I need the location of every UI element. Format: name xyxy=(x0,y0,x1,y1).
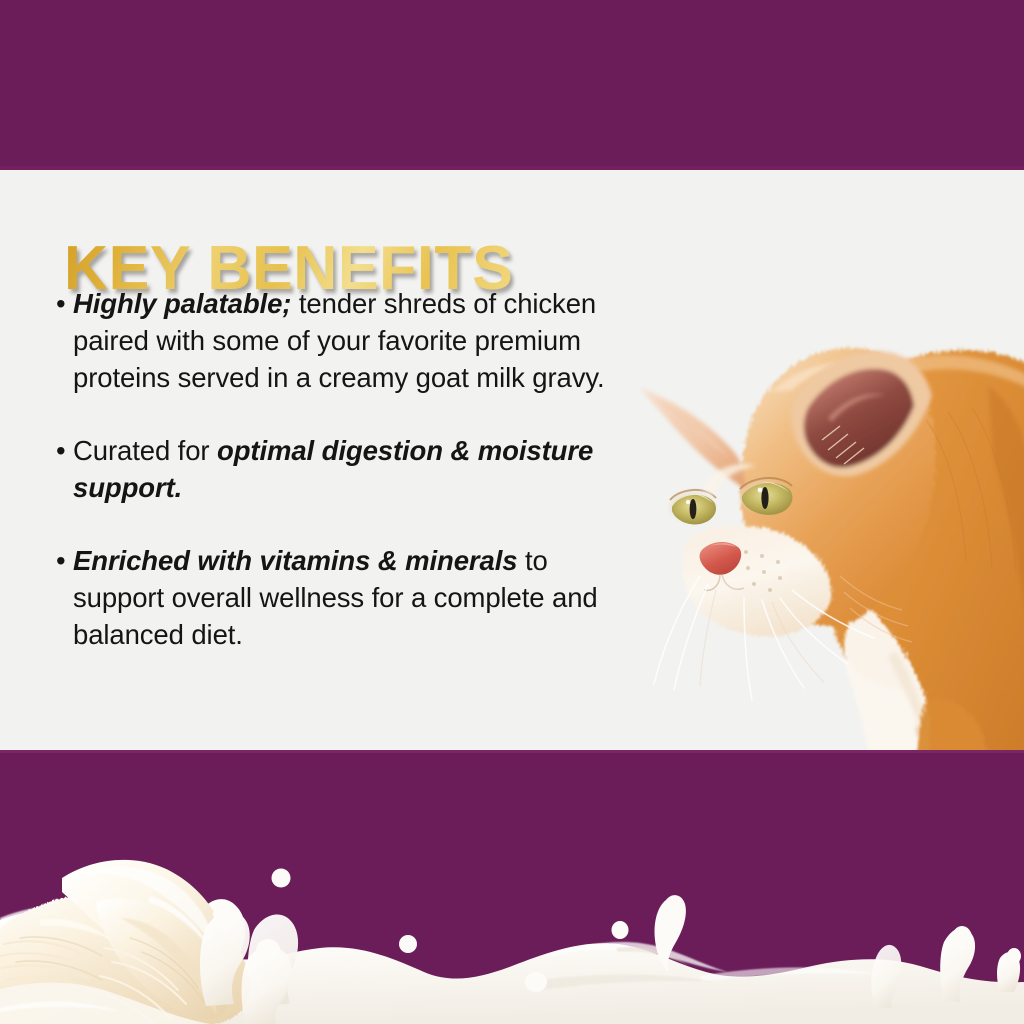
top-band-edge xyxy=(0,166,1024,170)
bullet-marker-icon: • xyxy=(56,433,66,470)
bullet-text: Enriched with vitamins & minerals to sup… xyxy=(56,543,626,654)
bullet-emphasis: Enriched with vitamins & minerals xyxy=(73,545,517,576)
list-item: • Enriched with vitamins & minerals to s… xyxy=(56,543,626,654)
bullet-text: Highly palatable; tender shreds of chick… xyxy=(56,286,626,397)
bullet-lead: Curated for xyxy=(73,435,217,466)
bottom-purple-band xyxy=(0,752,1024,1024)
bullet-marker-icon: • xyxy=(56,286,66,323)
bullet-text: Curated for optimal digestion & moisture… xyxy=(56,433,626,507)
bullet-marker-icon: • xyxy=(56,543,66,580)
top-purple-band xyxy=(0,0,1024,168)
milk-splash-artwork xyxy=(0,752,1024,1024)
bottom-band-edge xyxy=(0,750,1024,753)
list-item: • Highly palatable; tender shreds of chi… xyxy=(56,286,626,397)
bullet-emphasis: Highly palatable; xyxy=(73,288,291,319)
poster-canvas: KEY BENEFITS • Highly palatable; tender … xyxy=(0,0,1024,1024)
key-benefits-list: • Highly palatable; tender shreds of chi… xyxy=(56,286,626,654)
list-item: • Curated for optimal digestion & moistu… xyxy=(56,433,626,507)
